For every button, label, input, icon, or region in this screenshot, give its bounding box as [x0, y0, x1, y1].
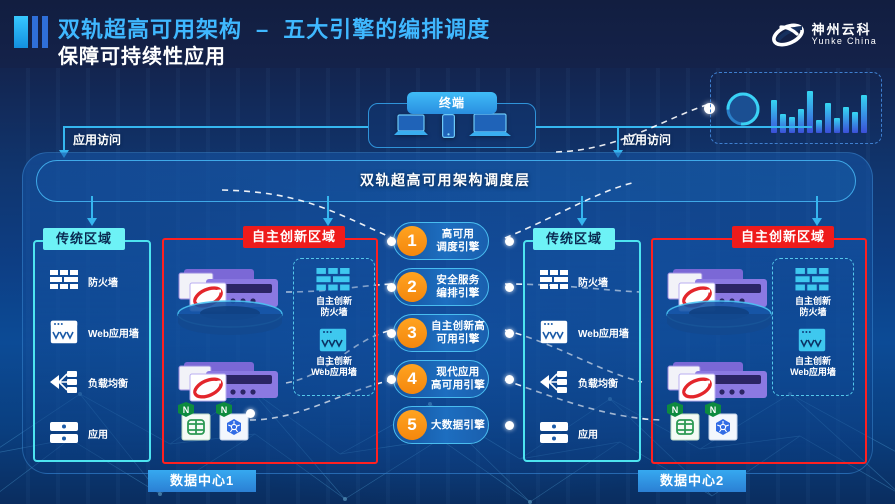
- secbox-line1: 自主创新: [795, 296, 831, 306]
- traditional-item-label: 防火墙: [88, 274, 118, 289]
- traditional-item-dc2-0[interactable]: 防火墙: [540, 270, 608, 292]
- engine-connector-dot-4: [387, 375, 396, 384]
- secbox-line2: Web应用墙: [790, 367, 836, 377]
- access-line-right: [536, 126, 812, 128]
- application-server-icon: [540, 422, 568, 444]
- device-pedestal: [170, 300, 290, 340]
- web-app-firewall-icon: [50, 320, 78, 344]
- page-title-dash: –: [242, 17, 283, 42]
- zone-arrow-stem-inno-dc1: [327, 196, 329, 220]
- traditional-item-label: Web应用墙: [88, 325, 139, 340]
- zone-arrow-stem-trad-dc1: [91, 196, 93, 220]
- web-app-firewall-icon: [540, 320, 568, 344]
- laptop-icon: [394, 114, 428, 138]
- engine-2[interactable]: 2安全服务编排引擎: [393, 268, 489, 306]
- engine-number-badge: 4: [397, 364, 427, 394]
- nginx-service-mesh-icon[interactable]: N: [665, 402, 701, 442]
- traditional-item-dc2-2[interactable]: 负载均衡: [540, 370, 618, 394]
- secbox-line1: 自主创新: [795, 356, 831, 366]
- nginx-service-mesh-icon[interactable]: N: [176, 402, 212, 442]
- terminal-label: 终端: [407, 92, 497, 114]
- nginx-kubernetes-icon[interactable]: N: [214, 402, 250, 442]
- engine-5[interactable]: 5大数据引擎: [393, 406, 489, 444]
- page-subtitle: 保障可持续性应用: [58, 40, 226, 69]
- engine-label: 现代应用高可用引擎: [427, 366, 488, 392]
- engine-3[interactable]: 3自主创新高可用引擎: [393, 314, 489, 352]
- engine-number-badge: 1: [397, 226, 427, 256]
- bar-6: [816, 120, 822, 133]
- secbox-line1: 自主创新: [316, 296, 352, 306]
- innovation-node-dot-dc1: [246, 409, 255, 418]
- engine-connector-dot-right-3: [505, 329, 514, 338]
- innovation-zone-tag-dc1: 自主创新区域: [243, 226, 345, 248]
- traditional-zone-tag-dc2: 传统区域: [533, 228, 615, 250]
- secbox-line1: 自主创新: [316, 356, 352, 366]
- header-accent-bar-3: [42, 16, 48, 48]
- engine-connector-dot-2: [387, 283, 396, 292]
- header-accent-bar-1: [14, 16, 28, 48]
- load-balancer-icon: [540, 370, 568, 394]
- load-balancer-icon: [50, 370, 78, 394]
- web-app-firewall-icon: [319, 328, 347, 352]
- engine-connector-dot-1: [387, 237, 396, 246]
- innovation-zone-tag-dc2: 自主创新区域: [732, 226, 834, 248]
- brand-logo-en: Yunke China: [812, 37, 877, 46]
- traditional-item-label: 应用: [578, 426, 598, 441]
- svg-text:N: N: [183, 405, 190, 415]
- engine-label: 自主创新高可用引擎: [427, 320, 488, 346]
- slide-canvas: 双轨超高可用架构–五大引擎的编排调度 保障可持续性应用 神州云科 Yunke C…: [0, 0, 895, 504]
- bar-7: [825, 103, 831, 133]
- innovation-secbox-label-dc1-1: 自主创新 Web应用墙: [297, 356, 371, 379]
- firewall-brick-icon: [315, 268, 351, 294]
- dashboard-widget[interactable]: [710, 72, 882, 144]
- access-label-left: 应用访问: [73, 131, 121, 148]
- traditional-item-dc1-1[interactable]: Web应用墙: [50, 320, 139, 344]
- traditional-item-dc1-3[interactable]: 应用: [50, 422, 108, 444]
- innovation-secbox-label-dc2-1: 自主创新 Web应用墙: [776, 356, 850, 379]
- firewall-brick-icon: [540, 270, 568, 292]
- svg-text:N: N: [672, 405, 679, 415]
- svg-text:N: N: [710, 405, 717, 415]
- page-title-sub: 五大引擎的编排调度: [283, 17, 490, 42]
- traditional-item-label: 负载均衡: [578, 375, 618, 390]
- brand-logo-cn: 神州云科: [812, 23, 877, 37]
- traditional-item-label: Web应用墙: [578, 325, 629, 340]
- bar-11: [861, 95, 867, 133]
- engine-connector-dot-3: [387, 329, 396, 338]
- engine-1[interactable]: 1高可用调度引擎: [393, 222, 489, 260]
- engine-connector-dot-right-5: [505, 421, 514, 430]
- access-label-right: 应用访问: [623, 131, 671, 148]
- secbox-line2: 防火墙: [320, 307, 347, 317]
- zone-arrow-inno-dc1: [323, 218, 333, 226]
- engine-number-badge: 2: [397, 272, 427, 302]
- innovation-secbox-label-dc1-0: 自主创新 防火墙: [297, 296, 371, 319]
- zone-arrow-stem-inno-dc2: [816, 196, 818, 220]
- bar-1: [771, 100, 777, 133]
- page-title-main: 双轨超高可用架构: [58, 17, 242, 42]
- engine-label: 高可用调度引擎: [427, 228, 488, 254]
- bar-8: [834, 118, 840, 133]
- secbox-line2: 防火墙: [799, 307, 826, 317]
- engine-label: 大数据引擎: [427, 419, 488, 432]
- secbox-line2: Web应用墙: [311, 367, 357, 377]
- device-pedestal: [659, 300, 779, 340]
- scheduling-layer-label: 双轨超高可用架构调度层: [360, 170, 531, 190]
- traditional-item-dc2-1[interactable]: Web应用墙: [540, 320, 629, 344]
- bar-4: [798, 109, 804, 133]
- firewall-brick-icon: [50, 270, 78, 292]
- access-line-left: [63, 126, 368, 128]
- bar-9: [843, 107, 849, 133]
- traditional-item-label: 负载均衡: [88, 375, 128, 390]
- engine-number-badge: 5: [397, 410, 427, 440]
- application-server-icon: [50, 422, 78, 444]
- engine-label: 安全服务编排引擎: [427, 274, 488, 300]
- traditional-item-dc1-2[interactable]: 负载均衡: [50, 370, 128, 394]
- bar-3: [789, 117, 795, 133]
- innovation-secbox-label-dc2-0: 自主创新 防火墙: [776, 296, 850, 319]
- zone-arrow-trad-dc2: [577, 218, 587, 226]
- slide-header: 双轨超高可用架构–五大引擎的编排调度 保障可持续性应用 神州云科 Yunke C…: [0, 0, 895, 68]
- brand-logo: 神州云科 Yunke China: [771, 20, 877, 50]
- traditional-item-label: 防火墙: [578, 274, 608, 289]
- donut-chart-icon: [723, 89, 763, 129]
- traditional-item-label: 应用: [88, 426, 108, 441]
- datacenter-label-1: 数据中心1: [148, 470, 256, 492]
- bar-10: [852, 112, 858, 133]
- datacenter-label-2: 数据中心2: [638, 470, 746, 492]
- header-accent-bar-2: [32, 16, 38, 48]
- traditional-item-dc2-3[interactable]: 应用: [540, 422, 598, 444]
- bar-2: [780, 114, 786, 133]
- traditional-zone-tag-dc1: 传统区域: [43, 228, 125, 250]
- zone-arrow-inno-dc2: [812, 218, 822, 226]
- svg-text:N: N: [221, 405, 228, 415]
- zone-arrow-trad-dc1: [87, 218, 97, 226]
- firewall-brick-icon: [794, 268, 830, 294]
- engine-number-badge: 3: [397, 318, 427, 348]
- engine-4[interactable]: 4现代应用高可用引擎: [393, 360, 489, 398]
- phone-icon: [442, 114, 455, 138]
- engine-connector-dot-right-2: [505, 283, 514, 292]
- zone-arrow-stem-trad-dc2: [581, 196, 583, 220]
- laptop-icon: [469, 113, 511, 139]
- yunke-swoosh-logo-icon: [771, 20, 805, 50]
- engine-connector-dot-right-1: [505, 237, 514, 246]
- web-app-firewall-icon: [798, 328, 826, 352]
- traditional-item-dc1-0[interactable]: 防火墙: [50, 270, 118, 292]
- nginx-kubernetes-icon[interactable]: N: [703, 402, 739, 442]
- engine-connector-dot-right-4: [505, 375, 514, 384]
